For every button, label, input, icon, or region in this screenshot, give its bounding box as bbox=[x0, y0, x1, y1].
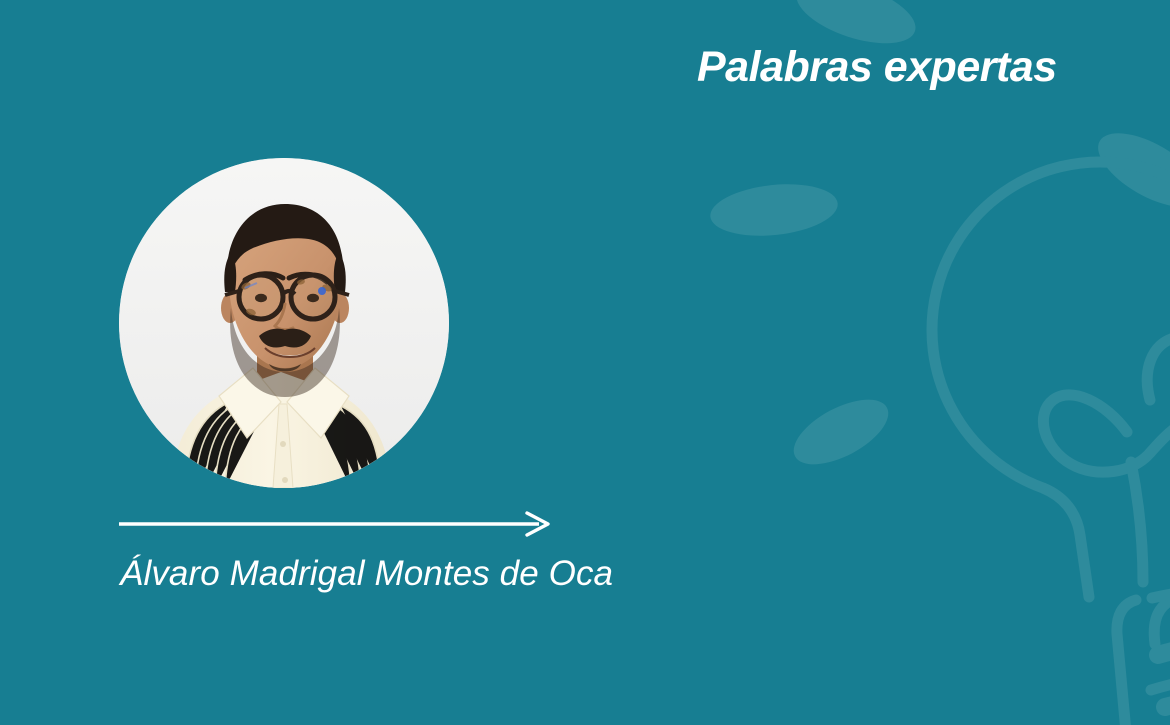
lightbulb-outline-icon bbox=[932, 162, 1170, 725]
page-title: Palabras expertas bbox=[697, 44, 1057, 91]
lightbulb-base-ridge-icon bbox=[1158, 637, 1170, 707]
avatar bbox=[119, 158, 449, 488]
portrait-photo bbox=[119, 158, 449, 488]
expert-quote-card: Palabras expertas bbox=[0, 0, 1170, 725]
speaker-name: Álvaro Madrigal Montes de Oca bbox=[120, 553, 613, 595]
arrow-right-icon bbox=[119, 508, 551, 540]
